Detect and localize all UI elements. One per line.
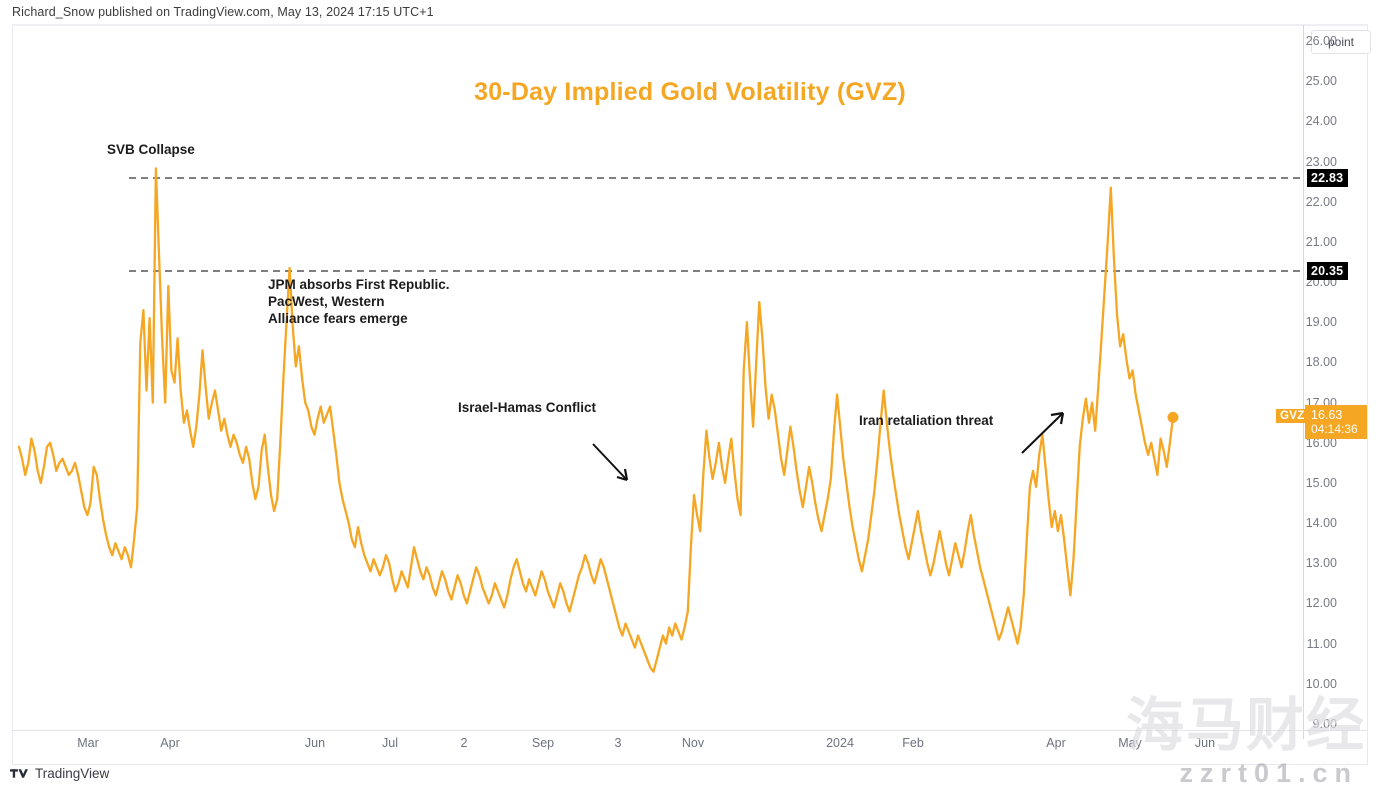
- time-tick: Apr: [160, 736, 179, 750]
- reference-lines: [129, 178, 1303, 271]
- last-price-value: 16.63: [1311, 408, 1367, 422]
- annotation-israel-hamas: Israel-Hamas Conflict: [458, 399, 596, 416]
- price-tick: 22.00: [1285, 195, 1337, 209]
- time-tick: 3: [615, 736, 622, 750]
- tradingview-mark: [10, 767, 29, 780]
- time-tick: May: [1118, 736, 1142, 750]
- time-tick: 2: [461, 736, 468, 750]
- price-tick: 9.00: [1285, 717, 1337, 731]
- price-tick: 10.00: [1285, 677, 1337, 691]
- time-tick: Jun: [305, 736, 325, 750]
- price-line-chart: [13, 25, 1303, 740]
- price-tick: 14.00: [1285, 516, 1337, 530]
- price-tick: 18.00: [1285, 355, 1337, 369]
- time-axis[interactable]: MarAprJunJul2Sep3Nov2024FebAprMayJun: [0, 731, 1303, 757]
- tradingview-wordmark: TradingView: [35, 766, 109, 781]
- gvz-series-line: [19, 168, 1173, 671]
- time-tick: 2024: [826, 736, 854, 750]
- time-tick: Sep: [532, 736, 554, 750]
- price-tick: 19.00: [1285, 315, 1337, 329]
- price-tick: 15.00: [1285, 476, 1337, 490]
- time-tick: Jul: [382, 736, 398, 750]
- price-tick: 26.00: [1285, 34, 1337, 48]
- chart-plot-area[interactable]: [13, 25, 1303, 740]
- price-tick: 25.00: [1285, 74, 1337, 88]
- annotation-jpm-first-republic: JPM absorbs First Republic. PacWest, Wes…: [268, 276, 450, 327]
- price-tick: 21.00: [1285, 235, 1337, 249]
- time-tick: Mar: [77, 736, 99, 750]
- israel-hamas-arrow: [593, 444, 627, 480]
- time-tick: Apr: [1046, 736, 1065, 750]
- price-tick: 13.00: [1285, 556, 1337, 570]
- price-tick: 24.00: [1285, 114, 1337, 128]
- tradingview-logo[interactable]: TradingView: [10, 766, 109, 781]
- price-tick: 12.00: [1285, 596, 1337, 610]
- time-tick: Feb: [902, 736, 924, 750]
- bar-countdown: 04:14:36: [1311, 422, 1367, 436]
- price-tick: 23.00: [1285, 155, 1337, 169]
- annotation-svb-collapse: SVB Collapse: [107, 141, 195, 158]
- price-axis[interactable]: 26.0025.0024.0023.0022.0021.0020.0019.00…: [1304, 25, 1367, 730]
- price-reference-label: 22.83: [1307, 169, 1348, 187]
- price-reference-label: 20.35: [1307, 262, 1348, 280]
- price-tick: 11.00: [1285, 637, 1337, 651]
- time-tick: Nov: [682, 736, 704, 750]
- publisher-byline: Richard_Snow published on TradingView.co…: [12, 5, 434, 19]
- last-price-dot: [1168, 412, 1179, 423]
- annotation-iran-retaliation: Iran retaliation threat: [859, 412, 993, 429]
- last-price-badge[interactable]: 16.63 04:14:36: [1305, 405, 1367, 439]
- time-tick: Jun: [1195, 736, 1215, 750]
- ticker-tag: GVZ: [1276, 409, 1309, 423]
